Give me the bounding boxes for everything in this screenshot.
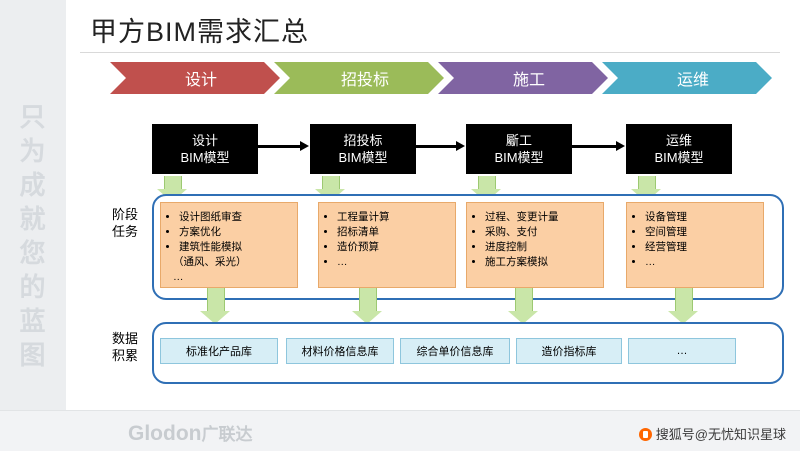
task-item: 设计图纸审查	[179, 210, 293, 225]
task-item: 施工方案模拟	[485, 255, 599, 270]
task-item: 过程、变更计量	[485, 210, 599, 225]
task-card-construction: 过程、变更计量 采购、支付 进度控制 施工方案模拟	[466, 202, 604, 288]
task-item: …	[645, 255, 759, 270]
brand-logo-en: Glodon	[128, 422, 201, 445]
model-box-design: 设计 BIM模型	[152, 124, 258, 174]
task-card-bidding: 工程量计算 招标清单 造价预算 …	[318, 202, 456, 288]
phase-label-design: 设计	[185, 66, 217, 90]
model-box-operation-line2: BIM模型	[654, 149, 703, 166]
phase-label-operation: 运维	[677, 66, 709, 90]
task-item: 造价预算	[337, 240, 451, 255]
green-arrow-down-operation-data	[668, 288, 698, 326]
task-item: 采购、支付	[485, 225, 599, 240]
row-label-tasks: 阶段任务	[110, 206, 140, 240]
model-box-construction: 斸工 BIM模型	[466, 124, 572, 174]
model-box-bidding-line1: 招投标	[343, 132, 382, 149]
task-item: （通风、采光）	[173, 255, 293, 270]
data-card-cost-index: 造价指标库	[516, 338, 622, 364]
task-item: 进度控制	[485, 240, 599, 255]
task-item: 经营管理	[645, 240, 759, 255]
green-arrow-down-construction-data	[508, 288, 538, 326]
task-item: …	[173, 270, 293, 285]
data-card-material-price: 材料价格信息库	[286, 338, 394, 364]
task-item: 设备管理	[645, 210, 759, 225]
footer-attribution-text: 搜狐号@无忧知识星球	[656, 427, 786, 442]
data-card-standard-products: 标准化产品库	[160, 338, 278, 364]
flow-arrow-2	[416, 145, 456, 148]
task-card-operation: 设备管理 空间管理 经营管理 …	[626, 202, 764, 288]
task-item: 工程量计算	[337, 210, 451, 225]
flow-arrow-1	[258, 145, 300, 148]
green-arrow-down-design-data	[200, 288, 230, 326]
model-box-bidding: 招投标 BIM模型	[310, 124, 416, 174]
page-title: 甲方BIM需求汇总	[90, 10, 309, 49]
phase-chevron-design: 设计	[110, 62, 280, 94]
model-box-construction-line2: BIM模型	[494, 149, 543, 166]
model-box-bidding-line2: BIM模型	[338, 149, 387, 166]
task-item: 招标清单	[337, 225, 451, 240]
flow-arrow-3	[572, 145, 616, 148]
phase-chevron-bidding: 招投标	[274, 62, 444, 94]
task-card-design: 设计图纸审查 方案优化 建筑性能模拟 （通风、采光） …	[160, 202, 298, 288]
sohu-icon	[639, 428, 652, 441]
model-box-design-line2: BIM模型	[180, 149, 229, 166]
phase-chevron-operation: 运维	[602, 62, 772, 94]
phase-label-construction: 施工	[513, 66, 545, 90]
left-watermark-text: 只为成就您的蓝图	[10, 100, 56, 372]
brand-logo-cn: 广联达	[201, 425, 252, 444]
model-box-operation-line1: 运维	[666, 132, 692, 149]
row-label-data: 数据积累	[110, 330, 140, 364]
footer-attribution: 搜狐号@无忧知识星球	[637, 424, 786, 443]
model-box-design-line1: 设计	[192, 132, 218, 149]
title-divider	[80, 52, 780, 53]
model-box-operation: 运维 BIM模型	[626, 124, 732, 174]
green-arrow-down-bidding-data	[352, 288, 382, 326]
model-box-construction-line1: 斸工	[506, 132, 532, 149]
task-item: 建筑性能模拟	[179, 240, 293, 255]
phase-label-bidding: 招投标	[341, 66, 389, 90]
brand-logo: Glodon广联达	[128, 420, 252, 446]
phase-chevron-construction: 施工	[438, 62, 608, 94]
task-item: 空间管理	[645, 225, 759, 240]
task-item: …	[337, 255, 451, 270]
data-card-unit-price: 综合单价信息库	[400, 338, 510, 364]
data-card-more: …	[628, 338, 736, 364]
task-item: 方案优化	[179, 225, 293, 240]
